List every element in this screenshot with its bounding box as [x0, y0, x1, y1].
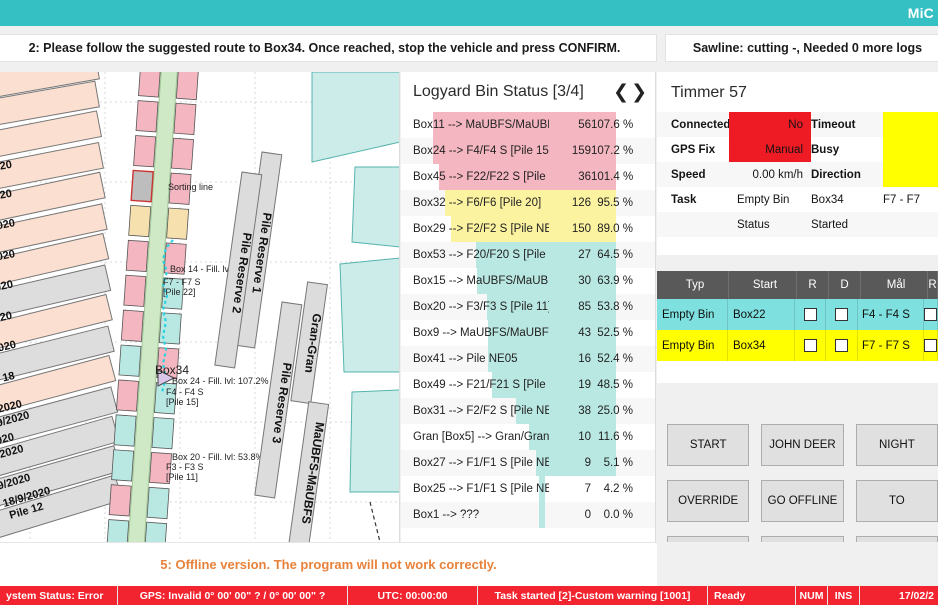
bin-percentage: 52.4 %: [591, 353, 643, 365]
chevron-left-icon[interactable]: ❮: [613, 83, 629, 102]
bin-quantity: 36: [549, 171, 591, 183]
bin-status-row[interactable]: Box11 --> MaUBFS/MaUBFS |56107.6 %: [401, 112, 655, 138]
bin-percentage: 5.1 %: [591, 457, 643, 469]
bin-label: Box11 --> MaUBFS/MaUBFS |: [401, 119, 549, 131]
bin-percentage: 4.2 %: [591, 483, 643, 495]
bin-percentage: 64.5 %: [591, 249, 643, 261]
task-table: Typ Start R D Mål R Empty BinBox22F4 - F…: [657, 271, 938, 383]
timeout-value: [883, 112, 938, 137]
bin-status-row[interactable]: Box1 --> ???00.0 %: [401, 502, 655, 528]
svg-text:Box34: Box34: [155, 363, 189, 377]
busy-label: Busy: [811, 137, 883, 162]
checkbox-icon[interactable]: [835, 308, 848, 321]
task-row-r2-checkbox[interactable]: [924, 299, 938, 330]
map-canvas[interactable]: 2020 2020 9/2020 9/2020 9/2020 /9/2020 8…: [0, 72, 400, 542]
status-ready: Ready: [708, 586, 796, 605]
th-r2: R: [928, 271, 938, 299]
bin-label: Box41 --> Pile NE05: [401, 353, 549, 365]
bin-label: Box27 --> F1/F1 S [Pile NE10]: [401, 457, 549, 469]
speed-value: 0.00 km/h: [729, 162, 811, 187]
bin-status-row[interactable]: Box15 --> MaUBFS/MaUBFS |3063.9 %: [401, 268, 655, 294]
task-row-d-checkbox[interactable]: [826, 330, 858, 361]
connected-label: Connected: [657, 112, 729, 137]
bin-quantity: 85: [549, 301, 591, 313]
vehicle-row-task: Task Empty Bin Box34 F7 - F7: [657, 187, 938, 212]
bin-quantity: 159: [549, 145, 591, 157]
checkbox-icon[interactable]: [804, 339, 817, 352]
status-extra: [883, 212, 938, 237]
sawline-message-box: Sawline: cutting -, Needed 0 more logs: [665, 34, 938, 62]
svg-text:[Pile 22]: [Pile 22]: [163, 287, 196, 297]
speed-label: Speed: [657, 162, 729, 187]
bin-label: Box25 --> F1/F1 S [Pile NE10]: [401, 483, 549, 495]
th-d: D: [829, 271, 861, 299]
bin-percentage: 25.0 %: [591, 405, 643, 417]
vehicle-row-speed: Speed 0.00 km/h Direction: [657, 162, 938, 187]
bin-status-row[interactable]: Box32 --> F6/F6 [Pile 20]12695.5 %: [401, 190, 655, 216]
task-table-row[interactable]: Empty BinBox22F4 - F4 S: [657, 299, 938, 330]
task-table-body[interactable]: Empty BinBox22F4 - F4 SEmpty BinBox34F7 …: [657, 299, 938, 361]
logyard-bin-status-panel: Logyard Bin Status [3/4] ❮ ❯ Box11 --> M…: [401, 72, 656, 542]
vehicle-title: Timmer 57: [657, 72, 938, 112]
command-button-start[interactable]: START: [667, 424, 749, 466]
bin-quantity: 19: [549, 379, 591, 391]
bin-percentage: 63.9 %: [591, 275, 643, 287]
bin-label: Box45 --> F22/F22 S [Pile N24: [401, 171, 549, 183]
status-bar: ystem Status: Error GPS: Invalid 0° 00' …: [0, 586, 938, 605]
bin-percentage: 107.2 %: [591, 145, 643, 157]
bin-quantity: 126: [549, 197, 591, 209]
bin-status-nav[interactable]: ❮ ❯: [613, 83, 647, 102]
status-date: 17/02/2: [860, 586, 938, 605]
task-row-start: Box22: [728, 299, 795, 330]
svg-text:F7 - F7 S: F7 - F7 S: [163, 277, 201, 287]
bin-status-title: Logyard Bin Status [3/4]: [413, 83, 613, 101]
bin-label: Box24 --> F4/F4 S [Pile 15]: [401, 145, 549, 157]
bin-percentage: 53.8 %: [591, 301, 643, 313]
bin-status-row[interactable]: Box31 --> F2/F2 S [Pile NE08]3825.0 %: [401, 398, 655, 424]
bin-label: Box53 --> F20/F20 S [Pile N18: [401, 249, 549, 261]
task-row-d-checkbox[interactable]: [826, 299, 858, 330]
command-button-john-deer[interactable]: JOHN DEER: [761, 424, 843, 466]
th-typ: Typ: [657, 271, 729, 299]
bin-percentage: 89.0 %: [591, 223, 643, 235]
svg-text:Box 20 - Fill. lvl: 53.8%: Box 20 - Fill. lvl: 53.8%: [172, 452, 264, 462]
bin-label: Box29 --> F2/F2 S [Pile NE08]: [401, 223, 549, 235]
bin-percentage: 52.5 %: [591, 327, 643, 339]
direction-label: Direction: [811, 162, 883, 187]
logyard-map[interactable]: 2020 2020 9/2020 9/2020 9/2020 /9/2020 8…: [0, 72, 400, 542]
bin-status-row[interactable]: Box20 --> F3/F3 S [Pile 11]8553.8 %: [401, 294, 655, 320]
bin-quantity: 30: [549, 275, 591, 287]
checkbox-icon[interactable]: [924, 339, 937, 352]
checkbox-icon[interactable]: [804, 308, 817, 321]
bin-label: Box20 --> F3/F3 S [Pile 11]: [401, 301, 549, 313]
task-type-value: Empty Bin: [729, 187, 811, 212]
status-label: Status: [729, 212, 811, 237]
bin-label: Box9 --> MaUBFS/MaUBFS [P: [401, 327, 549, 339]
task-row-type: Empty Bin: [657, 299, 728, 330]
bin-percentage: 101.4 %: [591, 171, 643, 183]
bin-percentage: 95.5 %: [591, 197, 643, 209]
svg-text:Sorting line: Sorting line: [168, 182, 213, 192]
bin-quantity: 0: [549, 509, 591, 521]
status-gps: GPS: Invalid 0° 00' 00" ? / 0° 00' 00" ?: [118, 586, 348, 605]
bin-status-row[interactable]: Gran [Box5] --> Gran/Gran [P1011.6 %: [401, 424, 655, 450]
vehicle-row-status: Status Started: [657, 212, 938, 237]
bin-status-row[interactable]: Box9 --> MaUBFS/MaUBFS [P4352.5 %: [401, 320, 655, 346]
application-window: MiC 2: Please follow the suggested route…: [0, 0, 938, 605]
offline-warning-filler: [657, 542, 938, 586]
svg-text:F3 - F3 S: F3 - F3 S: [166, 462, 204, 472]
svg-text:[Pile 11]: [Pile 11]: [166, 472, 198, 482]
route-message-box: 2: Please follow the suggested route to …: [0, 34, 657, 62]
bin-percentage: 48.5 %: [591, 379, 643, 391]
bin-status-row[interactable]: Box25 --> F1/F1 S [Pile NE10]74.2 %: [401, 476, 655, 502]
bin-quantity: 38: [549, 405, 591, 417]
svg-text:Box 24 - Fill. lvl: 107.2%: Box 24 - Fill. lvl: 107.2%: [172, 376, 269, 386]
bin-label: Box49 --> F21/F21 S [Pile N22: [401, 379, 549, 391]
bin-percentage: 107.6 %: [591, 119, 643, 131]
bin-status-row[interactable]: Box24 --> F4/F4 S [Pile 15]159107.2 %: [401, 138, 655, 164]
bin-status-row[interactable]: Box45 --> F22/F22 S [Pile N2436101.4 %: [401, 164, 655, 190]
direction-value: [883, 162, 938, 187]
status-value: Started: [811, 212, 883, 237]
vehicle-card: Timmer 57 Connected No Timeout GPS Fix M…: [657, 72, 938, 255]
svg-text:F4 - F4 S: F4 - F4 S: [166, 387, 204, 397]
th-r: R: [797, 271, 829, 299]
bin-label: Box32 --> F6/F6 [Pile 20]: [401, 197, 549, 209]
offline-warning: 5: Offline version. The program will not…: [0, 542, 657, 586]
checkbox-icon[interactable]: [924, 308, 937, 321]
status-ins: INS: [828, 586, 860, 605]
vehicle-panel: Timmer 57 Connected No Timeout GPS Fix M…: [657, 72, 938, 542]
vehicle-row-connected: Connected No Timeout: [657, 112, 938, 137]
bin-percentage: 11.6 %: [591, 431, 643, 443]
vehicle-card-spacer: [657, 237, 938, 255]
task-table-empty-row: [657, 361, 938, 383]
bin-status-header: Logyard Bin Status [3/4] ❮ ❯: [401, 72, 655, 112]
bin-label: Box15 --> MaUBFS/MaUBFS |: [401, 275, 549, 287]
bin-quantity: 9: [549, 457, 591, 469]
app-title: MiC: [908, 5, 934, 21]
bin-status-row[interactable]: Box27 --> F1/F1 S [Pile NE10]95.1 %: [401, 450, 655, 476]
bin-quantity: 56: [549, 119, 591, 131]
task-row-mal: F7 - F7 S: [858, 330, 924, 361]
gps-fix-label: GPS Fix: [657, 137, 729, 162]
command-button-override[interactable]: OVERRIDE: [667, 480, 749, 522]
status-task: Task started [2]-Custom warning [1001]: [478, 586, 708, 605]
status-utc: UTC: 00:00:00: [348, 586, 478, 605]
vehicle-row-gpsfix: GPS Fix Manual Busy: [657, 137, 938, 162]
title-bar: MiC: [0, 0, 938, 26]
task-row-r2-checkbox[interactable]: [924, 330, 938, 361]
th-mal: Mål: [861, 271, 928, 299]
bin-status-row[interactable]: Box41 --> Pile NE051652.4 %: [401, 346, 655, 372]
bin-quantity: 7: [549, 483, 591, 495]
task-row-r-checkbox[interactable]: [795, 299, 827, 330]
task-row-start: Box34: [728, 330, 795, 361]
task-table-row[interactable]: Empty BinBox34F7 - F7 S: [657, 330, 938, 361]
command-button-to[interactable]: TO: [856, 480, 938, 522]
status-system: ystem Status: Error: [0, 586, 118, 605]
svg-text:[Pile 15]: [Pile 15]: [166, 397, 199, 407]
bin-label: Box1 --> ???: [401, 509, 549, 521]
bin-quantity: 16: [549, 353, 591, 365]
message-strip: 2: Please follow the suggested route to …: [0, 26, 938, 69]
bin-label: Box31 --> F2/F2 S [Pile NE08]: [401, 405, 549, 417]
chevron-right-icon[interactable]: ❯: [631, 83, 647, 102]
bin-status-row[interactable]: Box53 --> F20/F20 S [Pile N182764.5 %: [401, 242, 655, 268]
task-row-mal: F4 - F4 S: [858, 299, 924, 330]
task-row-type: Empty Bin: [657, 330, 728, 361]
connected-value: No: [729, 112, 811, 137]
bin-quantity: 10: [549, 431, 591, 443]
status-spacer: [657, 212, 729, 237]
status-num: NUM: [796, 586, 828, 605]
command-button-grid[interactable]: STARTJOHN DEERNIGHTOVERRIDEGO OFFLINETOA…: [657, 424, 938, 542]
bin-status-row[interactable]: Box29 --> F2/F2 S [Pile NE08]15089.0 %: [401, 216, 655, 242]
bin-label: Gran [Box5] --> Gran/Gran [P: [401, 431, 549, 443]
busy-value: [883, 137, 938, 162]
timeout-label: Timeout: [811, 112, 883, 137]
gps-fix-value: Manual: [729, 137, 811, 162]
bin-status-list[interactable]: Box11 --> MaUBFS/MaUBFS |56107.6 %Box24 …: [401, 112, 655, 528]
command-button-night[interactable]: NIGHT: [856, 424, 938, 466]
command-button-go-offline[interactable]: GO OFFLINE: [761, 480, 843, 522]
task-row-r-checkbox[interactable]: [795, 330, 827, 361]
bin-quantity: 150: [549, 223, 591, 235]
task-box-value: Box34: [811, 187, 883, 212]
task-table-header: Typ Start R D Mål R: [657, 271, 938, 299]
bin-percentage: 0.0 %: [591, 509, 643, 521]
task-destination-value: F7 - F7: [883, 187, 938, 212]
bin-quantity: 43: [549, 327, 591, 339]
th-start: Start: [729, 271, 797, 299]
bin-quantity: 27: [549, 249, 591, 261]
bin-status-row[interactable]: Box49 --> F21/F21 S [Pile N221948.5 %: [401, 372, 655, 398]
task-label: Task: [657, 187, 729, 212]
checkbox-icon[interactable]: [835, 339, 848, 352]
